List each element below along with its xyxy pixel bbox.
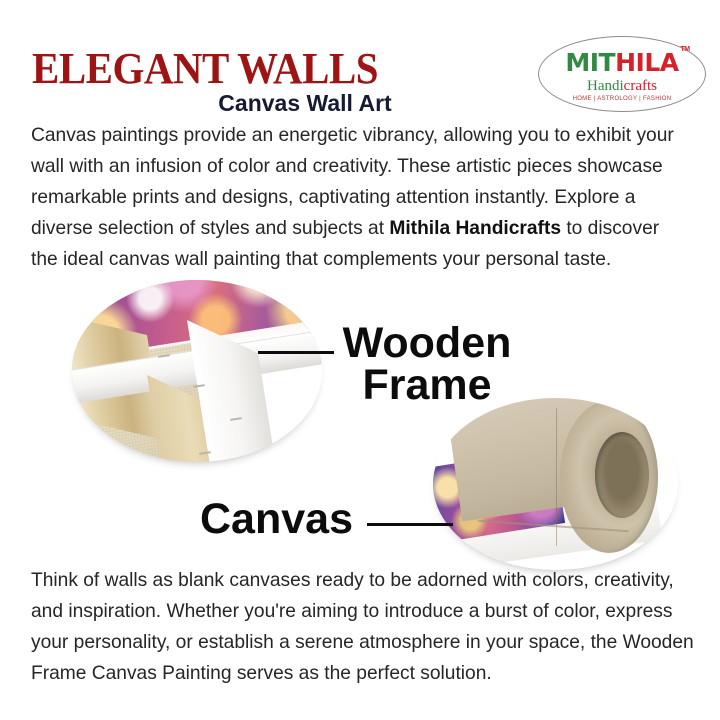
intro-paragraph: Canvas paintings provide an energetic vi… [31,120,691,275]
logo-wordmark-part3: HILA [615,48,679,77]
brand-mention: Mithila Handicrafts [389,218,561,239]
rolled-canvas-photo [433,398,678,570]
canvas-leader-line [367,523,453,526]
logo-wordmark: MITHILATM [565,50,678,75]
wooden-frame-label-line1: Wooden [332,322,522,364]
wooden-frame-label: Wooden Frame [332,322,522,406]
wooden-frame-photo [72,280,322,462]
canvas-label: Canvas [200,498,353,540]
page-subtitle: Canvas Wall Art [0,92,720,115]
logo-wordmark-part2: T [599,48,616,77]
trademark-icon: TM [681,46,690,53]
logo-wordmark-part1: MI [565,48,598,77]
canvas-roll-core-opening [595,432,649,518]
wooden-frame-leader-line [258,351,334,354]
closing-paragraph: Think of walls as blank canvases ready t… [31,565,696,689]
wooden-frame-label-line2: Frame [332,364,522,406]
page-title: ELEGANT WALLS [32,47,378,91]
infographic-page: ELEGANT WALLS MITHILATM Handicrafts HOME… [0,0,720,720]
